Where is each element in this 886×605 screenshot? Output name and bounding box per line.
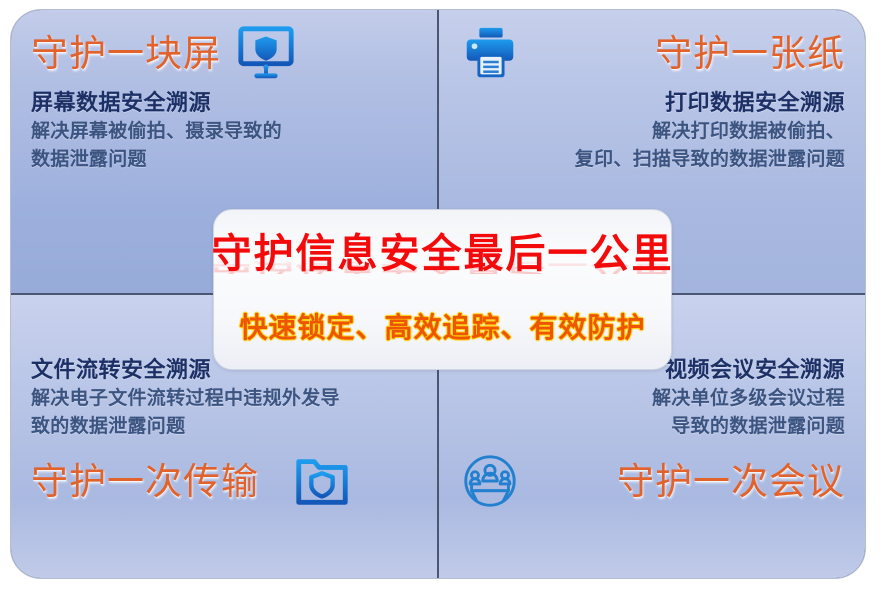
desc-file-line-1: 解决电子文件流转过程中违规外发导: [31, 385, 417, 413]
center-subtitle: 快速锁定、高效追踪、有效防护: [239, 306, 645, 346]
slogan-file: 守护一次传输: [31, 463, 259, 500]
slogan-row-screen: 守护一块屏: [31, 22, 417, 84]
center-callout-card: 守护信息安全最后一公里 守护信息安全最后一公里 快速锁定、高效追踪、有效防护: [213, 209, 672, 370]
slogan-row-file: 守护一次传输: [31, 450, 417, 512]
center-title: 守护信息安全最后一公里 守护信息安全最后一公里: [212, 234, 674, 274]
desc-meeting-line-1: 解决单位多级会议过程: [459, 385, 845, 413]
desc-screen-line-2: 数据泄露问题: [31, 146, 417, 174]
slogan-row-meeting: 守护一次会议: [459, 450, 845, 512]
heading-print: 打印数据安全溯源: [459, 88, 845, 118]
printer-icon: [459, 25, 521, 81]
text-block-screen: 屏幕数据安全溯源 解决屏幕被偷拍、摄录导致的 数据泄露问题: [31, 88, 417, 173]
desc-print-line-2: 复印、扫描导致的数据泄露问题: [459, 146, 845, 174]
heading-screen: 屏幕数据安全溯源: [31, 88, 417, 118]
desc-meeting-line-2: 导致的数据泄露问题: [459, 413, 845, 441]
center-title-text: 守护信息安全最后一公里: [212, 232, 674, 276]
slogan-row-print: 守护一张纸: [459, 22, 845, 84]
desc-print-line-1: 解决打印数据被偷拍、: [459, 118, 845, 146]
desc-screen-line-1: 解决屏幕被偷拍、摄录导致的: [31, 118, 417, 146]
desc-file-line-2: 致的数据泄露问题: [31, 413, 417, 441]
slogan-print: 守护一张纸: [655, 35, 845, 72]
slogan-screen: 守护一块屏: [31, 35, 221, 72]
monitor-shield-icon: [235, 25, 297, 81]
infographic-root: 守护一块屏: [0, 0, 886, 605]
slogan-meeting: 守护一次会议: [617, 463, 845, 500]
meeting-people-icon: [459, 453, 521, 509]
folder-shield-icon: [291, 453, 353, 509]
text-block-print: 打印数据安全溯源 解决打印数据被偷拍、 复印、扫描导致的数据泄露问题: [459, 88, 845, 173]
